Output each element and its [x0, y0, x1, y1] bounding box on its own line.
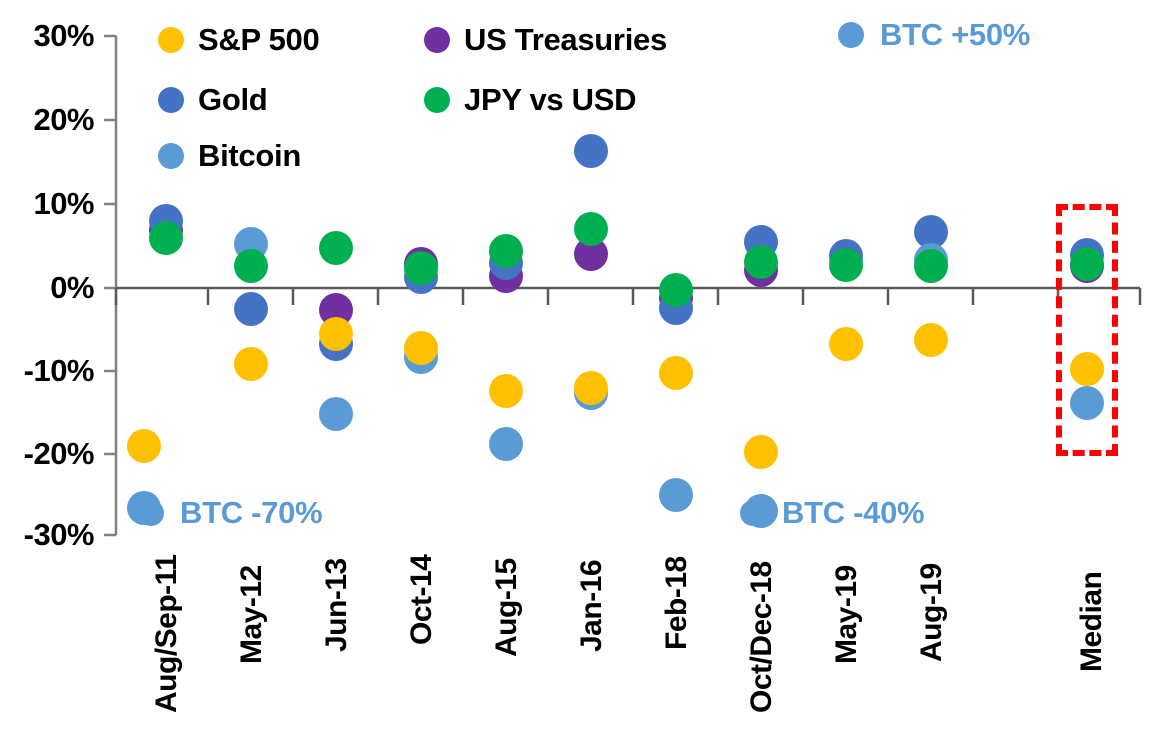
data-point — [319, 317, 353, 351]
data-point — [574, 212, 608, 246]
data-point — [234, 347, 268, 381]
data-point — [744, 435, 778, 469]
data-point — [404, 251, 438, 285]
x-axis-label-10: Median — [1075, 572, 1109, 672]
x-axis-label-0: Aug/Sep-11 — [150, 555, 184, 713]
x-axis-label-4: Aug-15 — [490, 558, 524, 657]
data-point — [234, 249, 268, 283]
chart-container: 30% 20% 10% 0% -10% -20% -30% S&P 500 Go… — [0, 0, 1151, 739]
data-point — [319, 231, 353, 265]
data-point — [829, 248, 863, 282]
data-point — [127, 491, 161, 525]
data-point — [574, 134, 608, 168]
x-axis-label-5: Jan-16 — [575, 560, 609, 652]
data-point — [149, 221, 183, 255]
data-point — [744, 494, 778, 528]
x-axis-label-1: May-12 — [235, 565, 269, 664]
x-axis-label-2: Jun-13 — [320, 558, 354, 652]
data-point — [1070, 386, 1104, 420]
data-point — [574, 371, 608, 405]
data-point — [319, 397, 353, 431]
data-point — [829, 327, 863, 361]
data-point — [234, 292, 268, 326]
data-point — [914, 323, 948, 357]
data-point — [489, 374, 523, 408]
data-point — [659, 356, 693, 390]
data-point — [659, 478, 693, 512]
x-axis-label-3: Oct-14 — [405, 555, 439, 645]
data-point — [1070, 352, 1104, 386]
x-axis-label-8: May-19 — [830, 565, 864, 664]
x-axis-label-6: Feb-18 — [660, 556, 694, 650]
data-point — [659, 273, 693, 307]
data-point — [404, 331, 438, 365]
data-point — [489, 427, 523, 461]
x-axis-label-9: Aug-19 — [915, 563, 949, 662]
data-point — [914, 249, 948, 283]
data-point — [127, 429, 161, 463]
data-point — [1070, 247, 1104, 281]
x-axis-label-7: Oct/Dec-18 — [745, 561, 779, 713]
data-point — [489, 234, 523, 268]
